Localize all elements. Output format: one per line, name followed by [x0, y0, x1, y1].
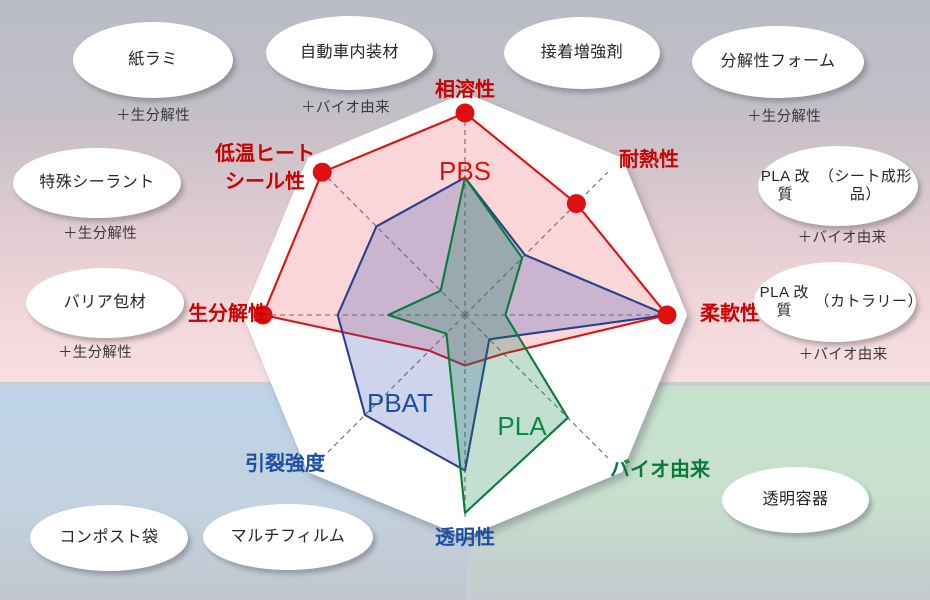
series-label-PBS: PBS — [439, 156, 491, 186]
callout-auto-interior[interactable]: 自動車内装材 — [266, 16, 433, 90]
axis-label-シール性: シール性 — [225, 169, 305, 193]
callout-sublabel-paper-lami: ＋生分解性 — [73, 104, 233, 125]
axis-label-柔軟性: 柔軟性 — [700, 301, 760, 325]
vertex-marker-柔軟性 — [658, 306, 677, 325]
callout-sublabel-pla-sheet: ＋バイオ由来 — [762, 226, 922, 247]
callout-mulch-film[interactable]: マルチフィルム — [203, 504, 373, 570]
vertex-marker-低温ヒート シール性 — [313, 163, 332, 182]
callout-compost-bag[interactable]: コンポスト袋 — [30, 505, 188, 571]
series-label-PBAT: PBAT — [367, 388, 433, 418]
callout-sublabel-degradable-foam: ＋生分解性 — [698, 105, 870, 126]
axis-label-耐熱性: 耐熱性 — [619, 147, 679, 171]
callout-label-line: マルチフィルム — [231, 527, 346, 547]
callout-label-line: PLA 改質 — [754, 284, 815, 321]
callout-label-line: 接着増強剤 — [541, 43, 624, 63]
callout-label-line: PLA 改質 — [758, 168, 813, 205]
callout-special-sealant[interactable]: 特殊シーラント — [13, 148, 181, 218]
callout-label-line: バリア包材 — [64, 293, 147, 313]
callout-barrier-pack[interactable]: バリア包材 — [26, 268, 184, 338]
axis-label-相溶性: 相溶性 — [435, 77, 495, 101]
callout-degradable-foam[interactable]: 分解性フォーム — [692, 26, 864, 98]
axis-label-低温ヒート: 低温ヒート — [214, 141, 315, 165]
callout-label-line: 自動車内装材 — [300, 43, 399, 63]
callout-adhesion-agent[interactable]: 接着増強剤 — [504, 17, 660, 89]
callout-pla-cutlery[interactable]: PLA 改質（カトラリー） — [754, 262, 916, 342]
axis-label-透明性: 透明性 — [435, 525, 495, 549]
callout-paper-lami[interactable]: 紙ラミ — [73, 22, 233, 98]
callout-sublabel-special-sealant: ＋生分解性 — [16, 222, 184, 243]
figure-canvas: 相溶性耐熱性柔軟性バイオ由来透明性引裂強度生分解性低温ヒートシール性 PBSPB… — [0, 0, 930, 600]
callout-sublabel-pla-cutlery: ＋バイオ由来 — [762, 343, 924, 364]
callout-pla-sheet[interactable]: PLA 改質（シート成形品） — [758, 146, 918, 226]
callout-label-line: 紙ラミ — [128, 50, 178, 70]
axis-label-バイオ由来: バイオ由来 — [610, 457, 711, 481]
axis-label-生分解性: 生分解性 — [188, 301, 268, 325]
callout-sublabel-auto-interior: ＋バイオ由来 — [262, 96, 429, 117]
series-label-PLA: PLA — [497, 411, 547, 441]
vertex-marker-相溶性 — [456, 104, 475, 123]
callout-clear-container[interactable]: 透明容器 — [722, 467, 869, 533]
callout-label-line: （カトラリー） — [815, 293, 916, 311]
axis-label-引裂強度: 引裂強度 — [245, 451, 326, 475]
callout-label-line: 分解性フォーム — [720, 52, 835, 72]
callout-label-line: （シート成形品） — [813, 168, 918, 205]
callout-sublabel-barrier-pack: ＋生分解性 — [16, 341, 174, 362]
callout-label-line: 透明容器 — [762, 490, 828, 510]
vertex-marker-耐熱性 — [567, 194, 586, 213]
callout-label-line: コンポスト袋 — [59, 528, 158, 548]
callout-label-line: 特殊シーラント — [39, 173, 155, 193]
